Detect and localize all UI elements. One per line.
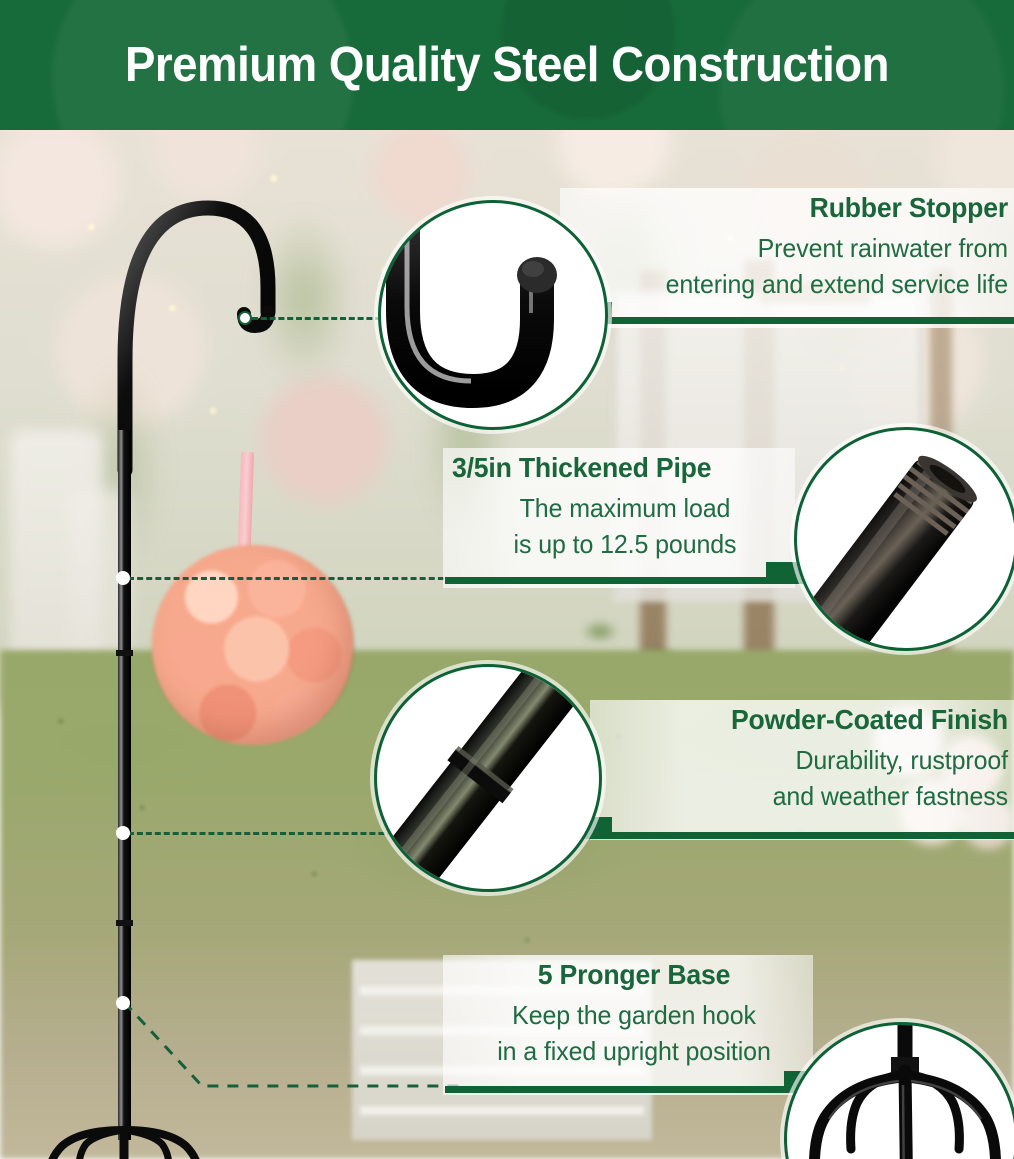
callout-underline [445, 1086, 813, 1093]
callout-line: in a fixed upright position [459, 1036, 808, 1067]
callout-five-pronger-base[interactable]: 5 Pronger Base Keep the garden hook in a… [0, 130, 1014, 1159]
callout-text-block: 5 Pronger Base Keep the garden hook in a… [452, 959, 816, 1067]
callout-line: Keep the garden hook [459, 1000, 808, 1031]
product-infographic: Premium Quality Steel Construction [0, 0, 1014, 1159]
page-title: Premium Quality Steel Construction [35, 37, 978, 93]
callout-title: 5 Pronger Base [461, 959, 807, 991]
five-prong-base-icon [787, 1025, 1014, 1159]
detail-circle-five-pronger-base[interactable] [784, 1022, 1014, 1159]
product-photo: Rubber Stopper Prevent rainwater from en… [0, 130, 1014, 1159]
header-banner: Premium Quality Steel Construction [0, 0, 1014, 130]
